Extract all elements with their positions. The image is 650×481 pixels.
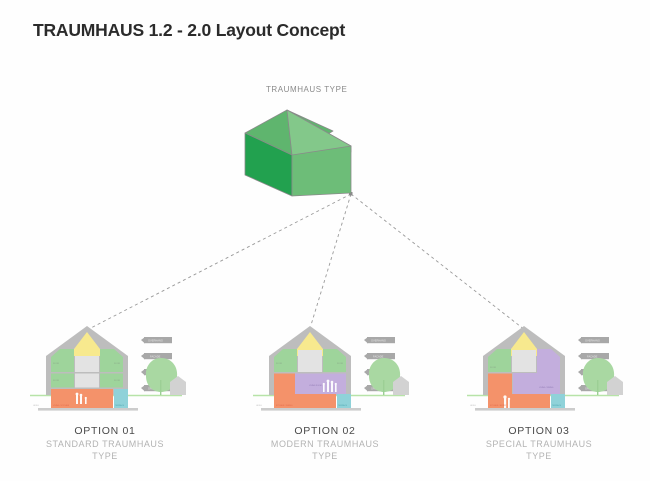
callout-tag-2[interactable]: FACADE xyxy=(141,353,172,360)
option-03-caption: OPTION 03 SPECIAL TRAUMHAUS TYPE xyxy=(444,424,634,462)
option-03-title: OPTION 03 xyxy=(444,424,634,438)
main-volume-micro-label: LIVING / DINING xyxy=(539,387,554,389)
zone-mid-floor xyxy=(295,374,346,395)
dimension-micro-label: LEVEL xyxy=(256,405,262,407)
option-02-subtitle-line1: MODERN TRAUMHAUS xyxy=(230,438,420,450)
callout-tag-2[interactable]: FACADE xyxy=(364,353,395,360)
option-03-house-section[interactable]: ROOM LIVING / DINING KITCHEN / ENTRY TER… xyxy=(467,326,623,411)
house-base-slab xyxy=(475,408,575,411)
callout-tag-1[interactable]: OVERHANG xyxy=(364,337,395,344)
svg-text:FACADE: FACADE xyxy=(587,354,598,358)
svg-text:ROOM: ROOM xyxy=(337,363,343,365)
layout-concept-diagram: ROOMROOM ROOMROOM LIVING / KITCHEN TERRA… xyxy=(0,0,650,481)
option-02-subtitle-line2: TYPE xyxy=(230,450,420,462)
zone-core-shaft-upper xyxy=(512,350,536,372)
option-01-subtitle-line2: TYPE xyxy=(10,450,200,462)
upper-left-micro-label: ROOM xyxy=(490,367,496,369)
zone-upper-left-room xyxy=(488,357,511,372)
svg-text:FACADE: FACADE xyxy=(150,354,161,358)
svg-text:ROOM: ROOM xyxy=(276,363,282,365)
option-01-house-section[interactable]: ROOMROOM ROOMROOM LIVING / KITCHEN TERRA… xyxy=(30,326,186,411)
callout-tag-1[interactable]: OVERHANG xyxy=(578,337,609,344)
mid-floor-micro-label: LIVING ROOM xyxy=(309,385,322,387)
svg-text:ROOM: ROOM xyxy=(53,380,59,382)
connector-to-option-03 xyxy=(351,194,525,330)
svg-text:ROOM: ROOM xyxy=(114,363,120,365)
connector-to-option-02 xyxy=(311,194,351,325)
option-03-subtitle-line2: TYPE xyxy=(444,450,634,462)
connector-to-option-01 xyxy=(87,194,351,330)
ground-micro-label: KITCHEN / ENTRY xyxy=(490,405,507,407)
zone-core-shaft-mid xyxy=(75,374,99,388)
callout-tag-2[interactable]: FACADE xyxy=(578,353,609,360)
svg-text:OVERHANG: OVERHANG xyxy=(585,338,600,342)
svg-text:FACADE: FACADE xyxy=(373,354,384,358)
annex-micro-label: TERRACE xyxy=(552,404,562,407)
zone-core-shaft-upper xyxy=(298,350,322,372)
callout-tag-1[interactable]: OVERHANG xyxy=(141,337,172,344)
zone-core-shaft-upper xyxy=(75,356,99,372)
svg-text:ROOM: ROOM xyxy=(53,363,59,365)
annex-micro-label: TERRACE xyxy=(115,404,125,407)
option-03-subtitle-line1: SPECIAL TRAUMHAUS xyxy=(444,438,634,450)
option-01-subtitle-line1: STANDARD TRAUMHAUS xyxy=(10,438,200,450)
house-base-slab xyxy=(261,408,361,411)
option-02-house-section[interactable]: ROOMROOM LIVING ROOM KITCHEN / DINING TE… xyxy=(253,326,409,411)
svg-text:OVERHANG: OVERHANG xyxy=(148,338,163,342)
option-02-caption: OPTION 02 MODERN TRAUMHAUS TYPE xyxy=(230,424,420,462)
annex-micro-label: TERRACE xyxy=(338,404,348,407)
svg-text:LIVING / KITCHEN: LIVING / KITCHEN xyxy=(53,405,70,407)
root-house-volume[interactable] xyxy=(245,110,351,196)
svg-text:ROOM: ROOM xyxy=(114,380,120,382)
root-house-side-face xyxy=(292,146,351,196)
ground-micro-label: KITCHEN / DINING xyxy=(276,405,293,407)
zone-micro-labels-lower: LIVING / KITCHEN xyxy=(53,405,70,407)
root-node-label: TRAUMHAUS TYPE xyxy=(266,85,347,94)
dimension-micro-label: LEVEL xyxy=(33,405,39,407)
option-01-caption: OPTION 01 STANDARD TRAUMHAUS TYPE xyxy=(10,424,200,462)
option-02-title: OPTION 02 xyxy=(230,424,420,438)
connector-lines xyxy=(87,192,525,330)
svg-text:OVERHANG: OVERHANG xyxy=(371,338,386,342)
dimension-micro-label: LEVEL xyxy=(470,405,476,407)
option-01-title: OPTION 01 xyxy=(10,424,200,438)
house-base-slab xyxy=(38,408,138,411)
